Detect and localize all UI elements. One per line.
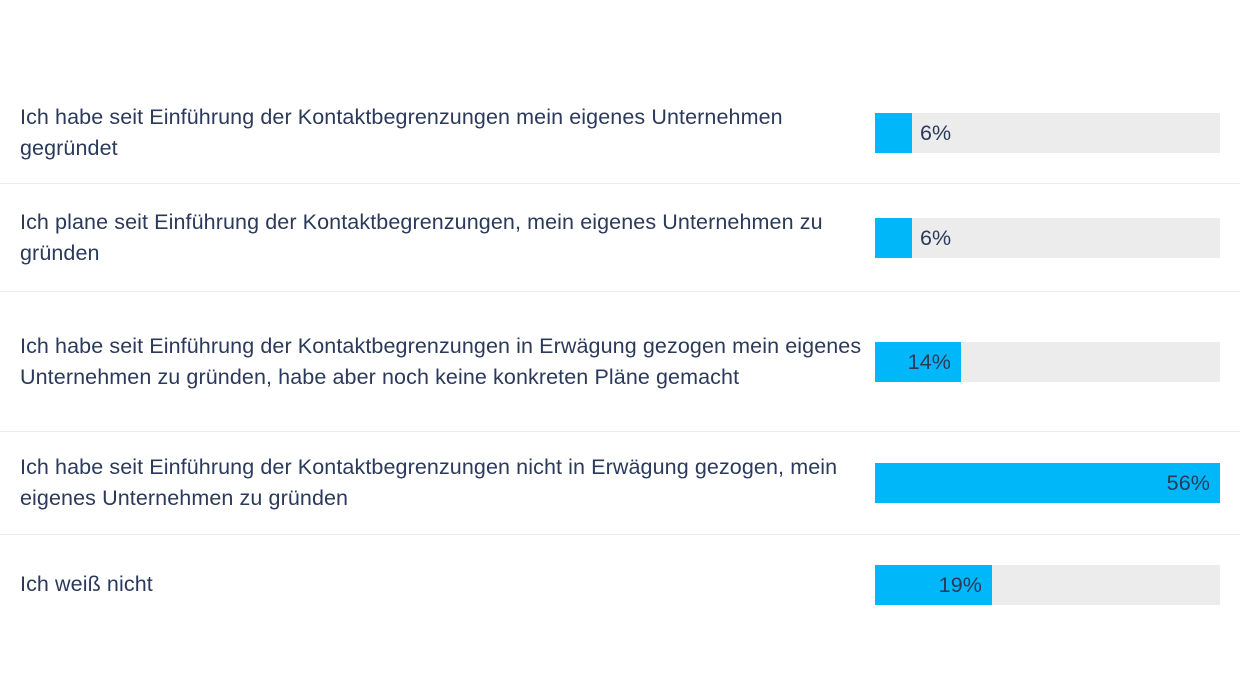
row-label: Ich habe seit Einführung der Kontaktbegr…: [20, 102, 875, 164]
table-row[interactable]: Ich habe seit Einführung der Kontaktbegr…: [0, 291, 1240, 431]
row-label: Ich habe seit Einführung der Kontaktbegr…: [20, 452, 875, 514]
bar-track: 6%: [875, 218, 1220, 258]
table-row[interactable]: Ich habe seit Einführung der Kontaktbegr…: [0, 431, 1240, 534]
bar-track: 14%: [875, 342, 1220, 382]
bar-track: 19%: [875, 565, 1220, 605]
bar-track: 6%: [875, 113, 1220, 153]
bar-cell: 56%: [875, 463, 1220, 503]
bar-value-label: 6%: [912, 218, 951, 258]
bar-fill: [875, 218, 912, 258]
bar-fill: [875, 113, 912, 153]
row-label: Ich weiß nicht: [20, 569, 875, 600]
bar-cell: 19%: [875, 565, 1220, 605]
bar-value-label: 19%: [875, 565, 992, 605]
bar-value-label: 14%: [875, 342, 961, 382]
bar-track: 56%: [875, 463, 1220, 503]
bar-cell: 6%: [875, 113, 1220, 153]
table-row[interactable]: Ich habe seit Einführung der Kontaktbegr…: [0, 83, 1240, 183]
row-label: Ich plane seit Einführung der Kontaktbeg…: [20, 207, 875, 269]
row-label: Ich habe seit Einführung der Kontaktbegr…: [20, 331, 875, 393]
bar-cell: 6%: [875, 218, 1220, 258]
bar-cell: 14%: [875, 342, 1220, 382]
table-row[interactable]: Ich weiß nicht 19%: [0, 534, 1240, 634]
table-row[interactable]: Ich plane seit Einführung der Kontaktbeg…: [0, 183, 1240, 291]
chart-rows: Ich habe seit Einführung der Kontaktbegr…: [0, 83, 1240, 634]
bar-chart: Ich habe seit Einführung der Kontaktbegr…: [0, 0, 1240, 694]
bar-value-label: 6%: [912, 113, 951, 153]
bar-value-label: 56%: [875, 463, 1220, 503]
